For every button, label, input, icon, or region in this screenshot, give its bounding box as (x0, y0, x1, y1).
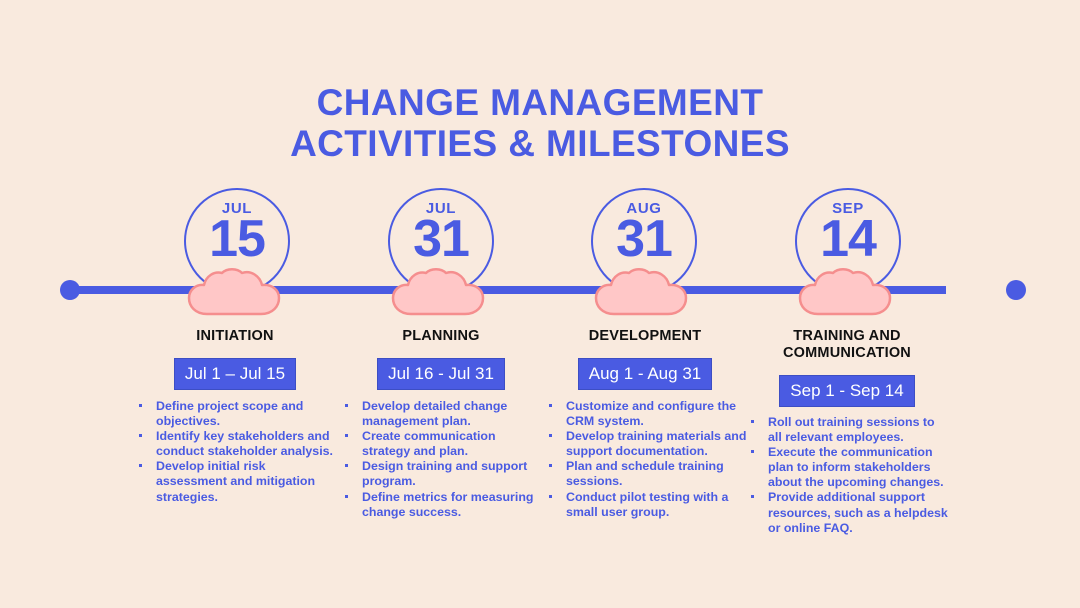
bullet-text: Create communication strategy and plan. (362, 429, 496, 458)
bullet-text: Plan and schedule training sessions. (566, 459, 724, 488)
milestone-day-2: 31 (388, 210, 494, 268)
list-item: Execute the communication plan to inform… (744, 445, 950, 490)
bullet-dot-icon (345, 495, 348, 498)
list-item: Identify key stakeholders and conduct st… (132, 429, 338, 459)
bullet-text: Develop training materials and support d… (566, 429, 746, 458)
page-title-line-2: ACTIVITIES & MILESTONES (0, 123, 1080, 164)
bullet-text: Identify key stakeholders and conduct st… (156, 429, 333, 458)
infographic-canvas: CHANGE MANAGEMENT ACTIVITIES & MILESTONE… (0, 0, 1080, 608)
phase-heading-4-line-1: TRAINING AND (793, 328, 900, 344)
list-item: Develop initial risk assessment and miti… (132, 459, 338, 504)
phase-heading-2: PLANNING (338, 328, 544, 345)
bullet-dot-icon (751, 450, 754, 453)
bullet-dot-icon (139, 464, 142, 467)
bullet-dot-icon (345, 434, 348, 437)
milestone-day-3: 31 (591, 210, 697, 268)
phase-column-planning: PLANNING Jul 16 - Jul 31 Develop detaile… (338, 328, 544, 520)
bullet-text: Define metrics for measuring change succ… (362, 490, 533, 519)
bullet-dot-icon (345, 404, 348, 407)
bullet-text: Develop initial risk assessment and miti… (156, 459, 315, 503)
bullet-text: Customize and configure the CRM system. (566, 399, 736, 428)
list-item: Create communication strategy and plan. (338, 429, 544, 459)
list-item: Define project scope and objectives. (132, 399, 338, 429)
bullet-text: Execute the communication plan to inform… (768, 445, 944, 489)
bullet-dot-icon (549, 495, 552, 498)
phase-column-development: DEVELOPMENT Aug 1 - Aug 31 Customize and… (542, 328, 748, 520)
list-item: Define metrics for measuring change succ… (338, 490, 544, 520)
phase-date-badge-3[interactable]: Aug 1 - Aug 31 (578, 358, 712, 390)
cloud-icon-4 (796, 268, 900, 316)
list-item: Develop detailed change management plan. (338, 399, 544, 429)
cloud-icon-1 (185, 268, 289, 316)
phase-heading-4: TRAINING AND COMMUNICATION (744, 328, 950, 362)
page-title-line-1: CHANGE MANAGEMENT (0, 82, 1080, 123)
list-item: Plan and schedule training sessions. (542, 459, 748, 489)
list-item: Customize and configure the CRM system. (542, 399, 748, 429)
bullet-text: Define project scope and objectives. (156, 399, 303, 428)
phase-column-initiation: INITIATION Jul 1 – Jul 15 Define project… (132, 328, 338, 505)
phase-date-badge-4[interactable]: Sep 1 - Sep 14 (779, 375, 914, 407)
list-item: Develop training materials and support d… (542, 429, 748, 459)
phase-column-training-and-communication: TRAINING AND COMMUNICATION Sep 1 - Sep 1… (744, 328, 950, 536)
bullet-dot-icon (139, 404, 142, 407)
bullet-dot-icon (751, 420, 754, 423)
bullet-text: Design training and support program. (362, 459, 527, 488)
timeline-end-dot-icon (1006, 280, 1026, 300)
bullet-dot-icon (751, 495, 754, 498)
list-item: Design training and support program. (338, 459, 544, 489)
phase-heading-4-line-2: COMMUNICATION (783, 345, 911, 361)
phase-date-badge-2[interactable]: Jul 16 - Jul 31 (377, 358, 505, 390)
bullet-text: Provide additional support resources, su… (768, 490, 948, 534)
bullet-text: Develop detailed change management plan. (362, 399, 507, 428)
bullet-dot-icon (549, 434, 552, 437)
phase-date-badge-1[interactable]: Jul 1 – Jul 15 (174, 358, 296, 390)
bullet-dot-icon (549, 464, 552, 467)
bullet-dot-icon (345, 464, 348, 467)
milestone-day-4: 14 (795, 210, 901, 268)
phase-bullets-4: Roll out training sessions to all releva… (744, 415, 950, 536)
timeline-start-dot-icon (60, 280, 80, 300)
phase-heading-3: DEVELOPMENT (542, 328, 748, 345)
phase-bullets-2: Develop detailed change management plan.… (338, 399, 544, 520)
phase-bullets-1: Define project scope and objectives. Ide… (132, 399, 338, 505)
bullet-text: Roll out training sessions to all releva… (768, 415, 935, 444)
cloud-icon-3 (592, 268, 696, 316)
page-title: CHANGE MANAGEMENT ACTIVITIES & MILESTONE… (0, 82, 1080, 164)
list-item: Roll out training sessions to all releva… (744, 415, 950, 445)
list-item: Provide additional support resources, su… (744, 490, 950, 535)
bullet-dot-icon (549, 404, 552, 407)
milestone-day-1: 15 (184, 210, 290, 268)
bullet-dot-icon (139, 434, 142, 437)
bullet-text: Conduct pilot testing with a small user … (566, 490, 728, 519)
phase-bullets-3: Customize and configure the CRM system. … (542, 399, 748, 520)
cloud-icon-2 (389, 268, 493, 316)
phase-heading-1: INITIATION (132, 328, 338, 345)
list-item: Conduct pilot testing with a small user … (542, 490, 748, 520)
